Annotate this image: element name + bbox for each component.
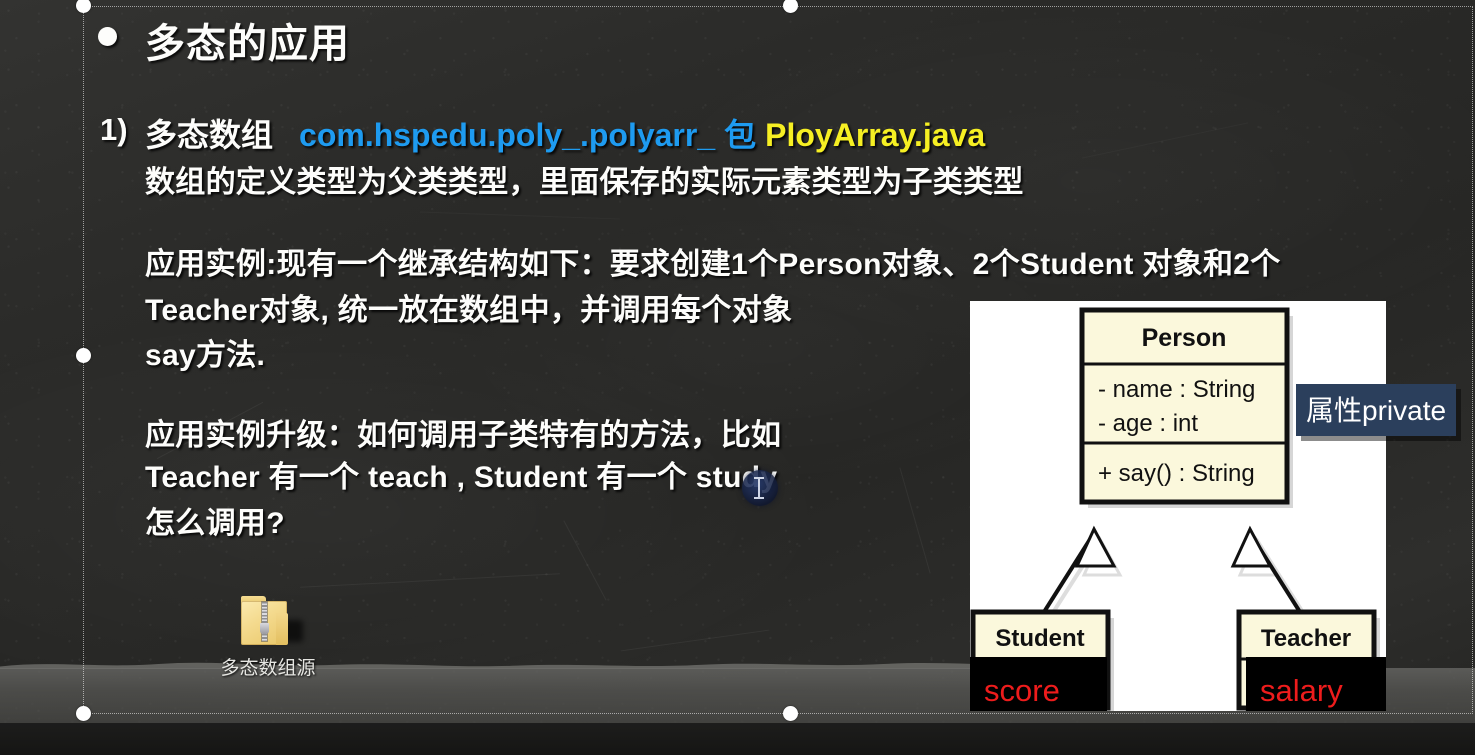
uml-class-teacher-attribute: salary [1260,673,1343,708]
uml-highlight-student-field: score [970,657,1107,711]
body-line: 应用实例升级：如何调用子类特有的方法，比如 [145,410,781,454]
mouse-cursor-highlight [742,470,778,506]
uml-highlight-teacher-field: salary [1246,657,1386,711]
annotation-text-cn: 属性 [1306,395,1362,426]
uml-class-teacher-name: Teacher [1261,625,1351,652]
uml-class-diagram: Person - name : String - age : int + say… [970,301,1386,711]
desktop-icon-label: 多态数组源 [208,653,328,680]
annotation-text-en: private [1362,395,1446,426]
uml-class-student-attribute: score [984,673,1060,708]
selection-handle-middle-left[interactable] [76,348,91,363]
uml-class-person-name: Person [1142,324,1227,352]
body-line: 应用实例:现有一个继承结构如下：要求创建1个Person对象、2个Student… [145,239,1281,283]
uml-diagram-svg: Person - name : String - age : int + say… [970,301,1386,711]
body-line: 数组的定义类型为父类类型，里面保存的实际元素类型为子类类型 [145,157,1024,201]
list-number: 1) [100,112,128,148]
slide-content: 多态的应用 1) 多态数组com.hspedu.poly_.polyarr_包P… [0,0,1475,755]
uml-class-person-attribute: - age : int [1098,410,1198,437]
zip-folder-icon [240,594,296,648]
text-ibeam-cursor-icon [758,477,760,499]
body-line: Teacher对象, 统一放在数组中，并调用每个对象 [145,285,792,329]
topic-label: 多态数组 [145,117,273,153]
java-file-name: PloyArray.java [765,117,985,153]
package-name: com.hspedu.poly_.polyarr_ [299,117,715,153]
body-line: 怎么调用? [145,498,285,542]
selection-handle-bottom-center[interactable] [783,706,798,721]
package-reference-line: 多态数组com.hspedu.poly_.polyarr_包PloyArray.… [145,110,985,156]
uml-class-person: Person - name : String - age : int + say… [1082,310,1287,502]
body-line: say方法. [145,330,265,374]
body-line: Teacher 有一个 teach , Student 有一个 study [145,452,777,496]
package-word: 包 [724,117,756,153]
slide-canvas: 多态的应用 1) 多态数组com.hspedu.poly_.polyarr_包P… [0,0,1475,755]
uml-class-person-attribute: - name : String [1098,376,1255,403]
selection-handle-bottom-left[interactable] [76,706,91,721]
desktop-icon-zip-archive[interactable]: 多态数组源 [208,594,328,680]
page-title: 多态的应用 [145,11,350,69]
filled-circle-bullet-icon [98,27,117,46]
uml-class-student-name: Student [995,625,1084,652]
uml-class-person-method: + say() : String [1098,460,1255,487]
annotation-private-attributes: 属性private [1296,384,1456,436]
